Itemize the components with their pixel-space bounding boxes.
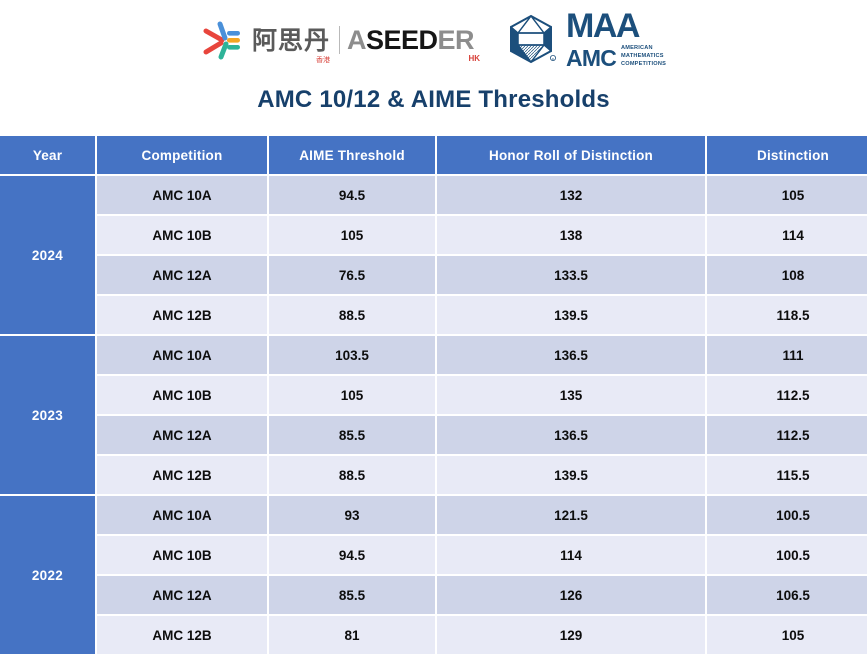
cell-honor: 138	[437, 216, 705, 254]
cell-distinction: 114	[707, 216, 867, 254]
table-row: AMC 10B 105 135 112.5	[0, 376, 867, 414]
column-header-honor-roll: Honor Roll of Distinction	[437, 136, 705, 174]
cell-aime: 105	[269, 216, 435, 254]
cell-aime: 85.5	[269, 416, 435, 454]
cell-competition: AMC 12A	[97, 576, 267, 614]
cell-distinction: 118.5	[707, 296, 867, 334]
maa-wordmark: MAA AMC AMERICAN MATHEMATICS COMPETITION…	[566, 10, 666, 69]
cell-distinction: 115.5	[707, 456, 867, 494]
cell-honor: 133.5	[437, 256, 705, 294]
aseeder-wordmark-part2: SEED	[366, 25, 438, 55]
cell-aime: 94.5	[269, 176, 435, 214]
cell-distinction: 112.5	[707, 376, 867, 414]
cell-aime: 103.5	[269, 336, 435, 374]
year-cell-2022: 2022	[0, 496, 95, 654]
maa-amc-logo: R MAA AMC AMERICAN MATHEMATICS COMPETITI…	[504, 10, 666, 69]
column-header-aime-threshold: AIME Threshold	[269, 136, 435, 174]
cell-honor: 136.5	[437, 336, 705, 374]
maa-tagline-line3: COMPETITIONS	[621, 60, 666, 68]
aseeder-asterisk-icon	[201, 18, 245, 62]
cell-competition: AMC 10A	[97, 176, 267, 214]
table-row: AMC 12B 88.5 139.5 115.5	[0, 456, 867, 494]
table-row: 2024 AMC 10A 94.5 132 105	[0, 176, 867, 214]
aseeder-logo: 阿思丹 香港 ASEEDER HK	[201, 18, 478, 62]
maa-tagline-line2: MATHEMATICS	[621, 52, 666, 60]
cell-honor: 139.5	[437, 456, 705, 494]
aseeder-wordmark: ASEEDER HK	[347, 27, 478, 54]
column-header-year: Year	[0, 136, 95, 174]
table-row: AMC 10B 94.5 114 100.5	[0, 536, 867, 574]
aseeder-wordmark-part1: A	[347, 25, 366, 55]
table-row: AMC 12A 76.5 133.5 108	[0, 256, 867, 294]
table-row: AMC 10B 105 138 114	[0, 216, 867, 254]
aseeder-chinese-name: 阿思丹 香港	[252, 28, 332, 53]
aseeder-chinese-text: 阿思丹	[252, 26, 330, 55]
cell-competition: AMC 10B	[97, 376, 267, 414]
aseeder-wordmark-part3: ER	[438, 25, 475, 55]
cell-aime: 94.5	[269, 536, 435, 574]
cell-competition: AMC 12A	[97, 416, 267, 454]
cell-aime: 88.5	[269, 456, 435, 494]
cell-aime: 88.5	[269, 296, 435, 334]
table-row: AMC 12B 88.5 139.5 118.5	[0, 296, 867, 334]
cell-honor: 121.5	[437, 496, 705, 534]
logo-bar: 阿思丹 香港 ASEEDER HK	[0, 0, 867, 80]
cell-competition: AMC 10B	[97, 536, 267, 574]
table-body: 2024 AMC 10A 94.5 132 105 AMC 10B 105 13…	[0, 176, 867, 654]
table-header-row: Year Competition AIME Threshold Honor Ro…	[0, 136, 867, 174]
cell-competition: AMC 12B	[97, 296, 267, 334]
thresholds-table-container: Year Competition AIME Threshold Honor Ro…	[0, 134, 867, 656]
year-cell-2023: 2023	[0, 336, 95, 494]
column-header-competition: Competition	[97, 136, 267, 174]
maa-tagline-line1: AMERICAN	[621, 44, 666, 52]
thresholds-table: Year Competition AIME Threshold Honor Ro…	[0, 134, 867, 656]
cell-distinction: 100.5	[707, 496, 867, 534]
maa-secondary-row: AMC AMERICAN MATHEMATICS COMPETITIONS	[566, 44, 666, 70]
table-row: 2022 AMC 10A 93 121.5 100.5	[0, 496, 867, 534]
cell-distinction: 105	[707, 616, 867, 654]
cell-aime: 93	[269, 496, 435, 534]
maa-secondary-text: AMC	[566, 47, 616, 70]
cell-competition: AMC 12B	[97, 456, 267, 494]
table-row: 2023 AMC 10A 103.5 136.5 111	[0, 336, 867, 374]
page-title: AMC 10/12 & AIME Thresholds	[0, 86, 867, 114]
cell-honor: 139.5	[437, 296, 705, 334]
cell-aime: 76.5	[269, 256, 435, 294]
cell-competition: AMC 10A	[97, 496, 267, 534]
table-row: AMC 12A 85.5 126 106.5	[0, 576, 867, 614]
cell-competition: AMC 12B	[97, 616, 267, 654]
logo-divider	[339, 26, 340, 54]
cell-distinction: 100.5	[707, 536, 867, 574]
cell-honor: 126	[437, 576, 705, 614]
cell-honor: 114	[437, 536, 705, 574]
maa-icosahedron-icon: R	[504, 13, 558, 67]
cell-aime: 85.5	[269, 576, 435, 614]
table-row: AMC 12A 85.5 136.5 112.5	[0, 416, 867, 454]
cell-distinction: 112.5	[707, 416, 867, 454]
cell-competition: AMC 10A	[97, 336, 267, 374]
cell-honor: 132	[437, 176, 705, 214]
column-header-distinction: Distinction	[707, 136, 867, 174]
aseeder-chinese-subtext: 香港	[316, 57, 330, 64]
cell-honor: 135	[437, 376, 705, 414]
year-cell-2024: 2024	[0, 176, 95, 334]
aseeder-wordmark-subtext: HK	[468, 55, 480, 63]
cell-competition: AMC 10B	[97, 216, 267, 254]
cell-honor: 136.5	[437, 416, 705, 454]
cell-distinction: 106.5	[707, 576, 867, 614]
cell-distinction: 105	[707, 176, 867, 214]
maa-tagline: AMERICAN MATHEMATICS COMPETITIONS	[621, 44, 666, 70]
table-row: AMC 12B 81 129 105	[0, 616, 867, 654]
cell-aime: 105	[269, 376, 435, 414]
cell-honor: 129	[437, 616, 705, 654]
cell-competition: AMC 12A	[97, 256, 267, 294]
cell-aime: 81	[269, 616, 435, 654]
cell-distinction: 111	[707, 336, 867, 374]
maa-primary-text: MAA	[566, 10, 666, 42]
table-header: Year Competition AIME Threshold Honor Ro…	[0, 136, 867, 174]
cell-distinction: 108	[707, 256, 867, 294]
